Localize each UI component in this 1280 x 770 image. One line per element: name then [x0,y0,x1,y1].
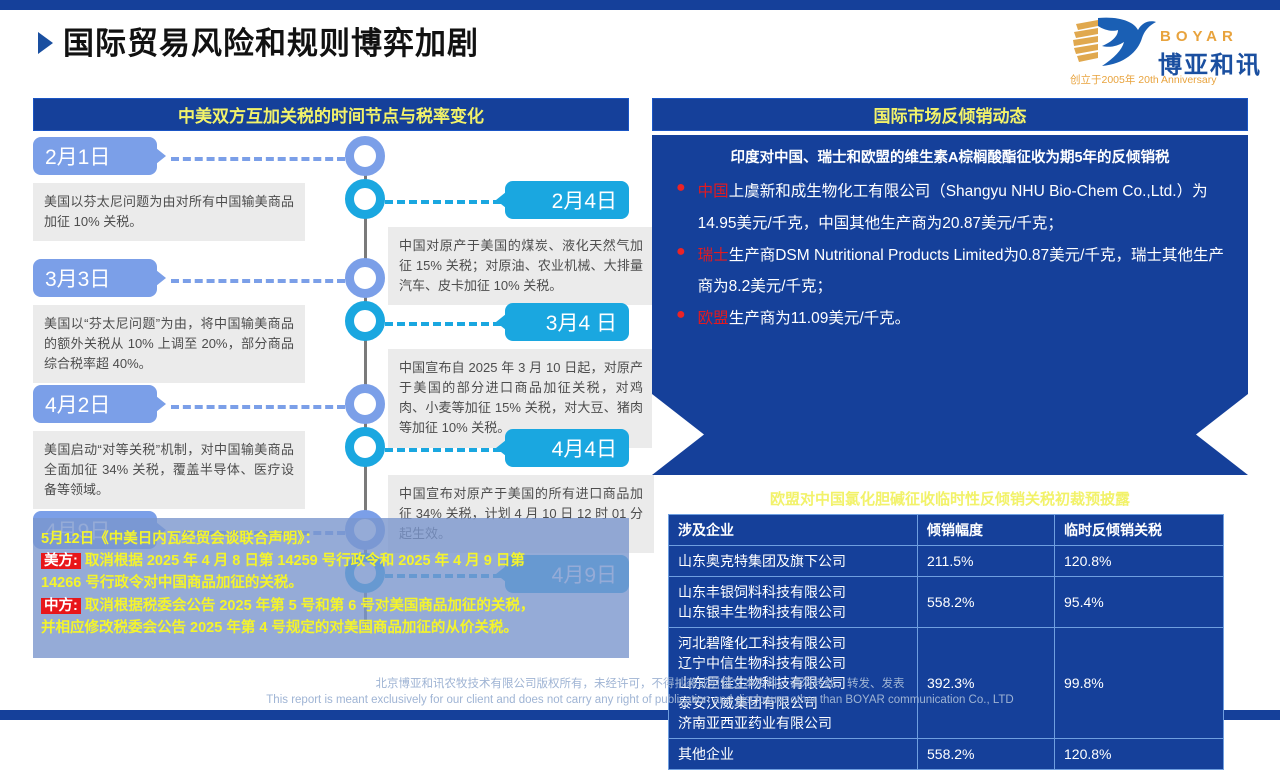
col-company: 涉及企业 [669,515,918,546]
bullet-dot-icon: ● [676,240,686,265]
india-antidumping-title: 印度对中国、瑞士和欧盟的维生素A棕榈酸酯征收为期5年的反倾销税 [652,146,1248,167]
timeline-connector [385,200,513,204]
pill-notch-icon [496,192,506,208]
pill-notch-icon [156,270,166,286]
cell-margin: 211.5% [918,546,1055,577]
cell-duty: 120.8% [1055,739,1224,770]
bullet-body: 生产商为11.09美元/千克。 [729,310,910,327]
col-margin: 倾销幅度 [918,515,1055,546]
boyar-bird-icon [1068,14,1160,70]
timeline-date-pill: 4月2日 [33,385,157,423]
logo-tagline: 创立于2005年 20th Anniversary [1070,72,1217,87]
triangle-bullet-icon [38,32,53,54]
cell-company: 山东奥克特集团及旗下公司 [669,546,918,577]
timeline-node [345,427,385,467]
timeline-date-pill: 2月4日 [505,181,629,219]
geneva-statement-overlay: 5月12日《中美日内瓦经贸会谈联合声明》： 美方:取消根据 2025 年 4 月… [33,518,629,658]
timeline-date-pill: 2月1日 [33,137,157,175]
timeline-description: 中国对原产于美国的煤炭、液化天然气加征 15% 关税；对原油、农业机械、大排量汽… [388,227,654,305]
timeline-connector [171,157,345,161]
bullet-text: 欧盟生产商为11.09美元/千克。 [698,303,1232,335]
timeline-node [345,384,385,424]
timeline-description: 美国启动“对等关税”机制，对中国输美商品全面加征 34% 关税，覆盖半导体、医疗… [33,431,305,509]
slide-root: 国际贸易风险和规则博弈加剧 BOYAR 博亚和讯 创立于2005年 20th A… [0,0,1280,720]
bullet-body: 生产商DSM Nutritional Products Limited为0.87… [698,247,1224,296]
page-title: 国际贸易风险和规则博弈加剧 [38,28,479,59]
timeline-node [345,301,385,341]
cell-company: 其他企业 [669,739,918,770]
timeline-header: 中美双方互加关税的时间节点与税率变化 [33,98,629,131]
list-item: ● 欧盟生产商为11.09美元/千克。 [676,303,1232,335]
logo-brand-en: BOYAR [1160,28,1238,45]
timeline-node [345,136,385,176]
timeline-date-pill: 3月3日 [33,259,157,297]
pill-notch-icon [156,148,166,164]
country-label: 中国 [698,183,729,200]
cell-company: 山东丰银饲料科技有限公司 山东银丰生物科技有限公司 [669,577,918,628]
overlay-cn-line: 中方:取消根据税委会公告 2025 年第 5 号和第 6 号对美国商品加征的关税… [41,595,621,617]
antidumping-header: 国际市场反倾销动态 [652,98,1248,131]
list-item: ● 瑞士生产商DSM Nutritional Products Limited为… [676,240,1232,304]
overlay-headline: 5月12日《中美日内瓦经贸会谈联合声明》： [41,528,621,550]
table-header-row: 涉及企业 倾销幅度 临时反倾销关税 [669,515,1224,546]
timeline-date-label: 3月4 日 [546,307,617,337]
table-row: 山东奥克特集团及旗下公司 211.5% 120.8% [669,546,1224,577]
cell-margin: 558.2% [918,577,1055,628]
col-duty: 临时反倾销关税 [1055,515,1224,546]
pill-notch-icon [496,314,506,330]
cell-duty: 120.8% [1055,546,1224,577]
timeline-date-label: 4月2日 [45,389,110,419]
timeline-node [345,179,385,219]
antidumping-bullet-list: ● 中国上虞新和成生物化工有限公司（Shangyu NHU Bio-Chem C… [676,176,1232,335]
footer-line-cn: 北京博亚和讯农牧技术有限公司版权所有，未经许可，不得抄袭或剪辑文本资料，请勿转载… [0,675,1280,691]
overlay-us-line: 美方:取消根据 2025 年 4 月 8 日第 14259 号行政令和 2025… [41,550,621,572]
timeline-date-pill: 3月4 日 [505,303,629,341]
top-navy-bar [0,0,1280,10]
timeline-node [345,258,385,298]
overlay-us-line-2: 14266 号行政令对中国商品加征的关税。 [41,572,621,594]
pill-notch-icon [156,396,166,412]
country-label: 欧盟 [698,310,729,327]
overlay-cn-text: 取消根据税委会公告 2025 年第 5 号和第 6 号对美国商品加征的关税， [85,598,535,614]
boyar-logo: BOYAR 博亚和讯 创立于2005年 20th Anniversary [1064,12,1264,88]
timeline-connector [171,279,345,283]
timeline-date-label: 3月3日 [45,263,110,293]
footer: 北京博亚和讯农牧技术有限公司版权所有，未经许可，不得抄袭或剪辑文本资料，请勿转载… [0,675,1280,706]
bullet-dot-icon: ● [676,176,686,201]
eu-table-title: 欧盟对中国氯化胆碱征收临时性反倾销关税初裁预披露 [652,488,1248,509]
cell-margin: 558.2% [918,739,1055,770]
bullet-body: 上虞新和成生物化工有限公司（Shangyu NHU Bio-Chem Co.,L… [698,183,1208,232]
timeline-connector [385,322,513,326]
us-party-tag: 美方: [41,553,81,569]
cn-party-tag: 中方: [41,598,81,614]
page-title-text: 国际贸易风险和规则博弈加剧 [63,28,479,59]
cell-duty: 95.4% [1055,577,1224,628]
timeline-description: 美国以“芬太尼问题”为由，将中国输美商品的额外关税从 10% 上调至 20%，部… [33,305,305,383]
country-label: 瑞士 [698,247,729,264]
timeline-date-label: 4月4日 [552,433,617,463]
bullet-text: 瑞士生产商DSM Nutritional Products Limited为0.… [698,240,1232,304]
timeline-date-label: 2月4日 [552,185,617,215]
table-row: 其他企业 558.2% 120.8% [669,739,1224,770]
timeline-date-pill: 4月4日 [505,429,629,467]
pill-notch-icon [496,440,506,456]
list-item: ● 中国上虞新和成生物化工有限公司（Shangyu NHU Bio-Chem C… [676,176,1232,240]
overlay-cn-line-2: 并相应修改税委会公告 2025 年第 4 号规定的对美国商品加征的从价关税。 [41,617,621,639]
footer-line-en: This report is meant exclusively for our… [0,694,1280,706]
bullet-text: 中国上虞新和成生物化工有限公司（Shangyu NHU Bio-Chem Co.… [698,176,1232,240]
timeline-connector [171,405,345,409]
antidumping-panel: 国际市场反倾销动态 印度对中国、瑞士和欧盟的维生素A棕榈酸酯征收为期5年的反倾销… [652,98,1248,658]
antidumping-table: 涉及企业 倾销幅度 临时反倾销关税 山东奥克特集团及旗下公司 211.5% 12… [668,514,1224,770]
timeline-connector [385,448,513,452]
overlay-us-text: 取消根据 2025 年 4 月 8 日第 14259 号行政令和 2025 年 … [85,553,525,569]
table-row: 山东丰银饲料科技有限公司 山东银丰生物科技有限公司 558.2% 95.4% [669,577,1224,628]
bullet-dot-icon: ● [676,303,686,328]
timeline-description: 美国以芬太尼问题为由对所有中国输美商品加征 10% 关税。 [33,183,305,241]
timeline-date-label: 2月1日 [45,141,110,171]
